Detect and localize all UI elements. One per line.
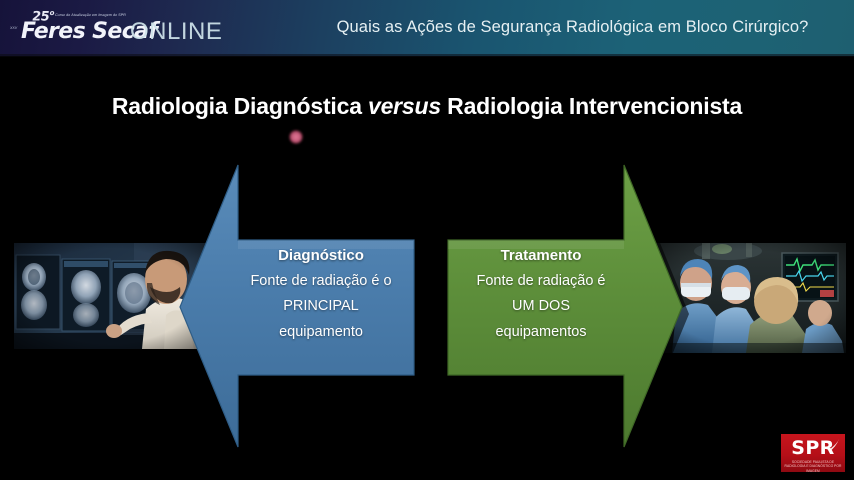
spr-logo-tagline: SOCIEDADE PAULISTA DE RADIOLOGIA E DIAGN…	[781, 460, 845, 473]
presentation-slide: XXV 25o Curso de Atualização em Imagem d…	[0, 0, 854, 480]
event-logo-subtitle: Curso de Atualização em Imagem do SPR	[55, 13, 127, 17]
spr-logo: SPR SOCIEDADE PAULISTA DE RADIOLOGIA E D…	[781, 434, 845, 472]
slide-title-part1: Radiologia Diagnóstica	[112, 93, 368, 119]
spr-swoosh-icon	[827, 438, 840, 453]
arrow-treatment-right	[434, 163, 690, 451]
arrow-treatment-right-shape	[434, 163, 690, 451]
slide-title-part2: Radiologia Intervencionista	[441, 93, 742, 119]
header-question-title: Quais as Ações de Segurança Radiológica …	[300, 18, 845, 37]
header-divider	[0, 54, 854, 57]
event-logo-mode: ONLINE	[130, 19, 222, 45]
arrow-diagnostic-left-shape	[178, 163, 434, 451]
event-logo: XXV 25o Curso de Atualização em Imagem d…	[8, 7, 208, 49]
arrow-diagnostic-left	[178, 163, 434, 451]
slide-title: Radiologia Diagnóstica versus Radiologia…	[0, 93, 854, 120]
event-logo-edition-ordinal: o	[49, 9, 54, 17]
slide-header-bar: XXV 25o Curso de Atualização em Imagem d…	[0, 0, 854, 56]
laser-pointer-dot	[289, 130, 303, 144]
slide-title-versus: versus	[368, 93, 441, 119]
